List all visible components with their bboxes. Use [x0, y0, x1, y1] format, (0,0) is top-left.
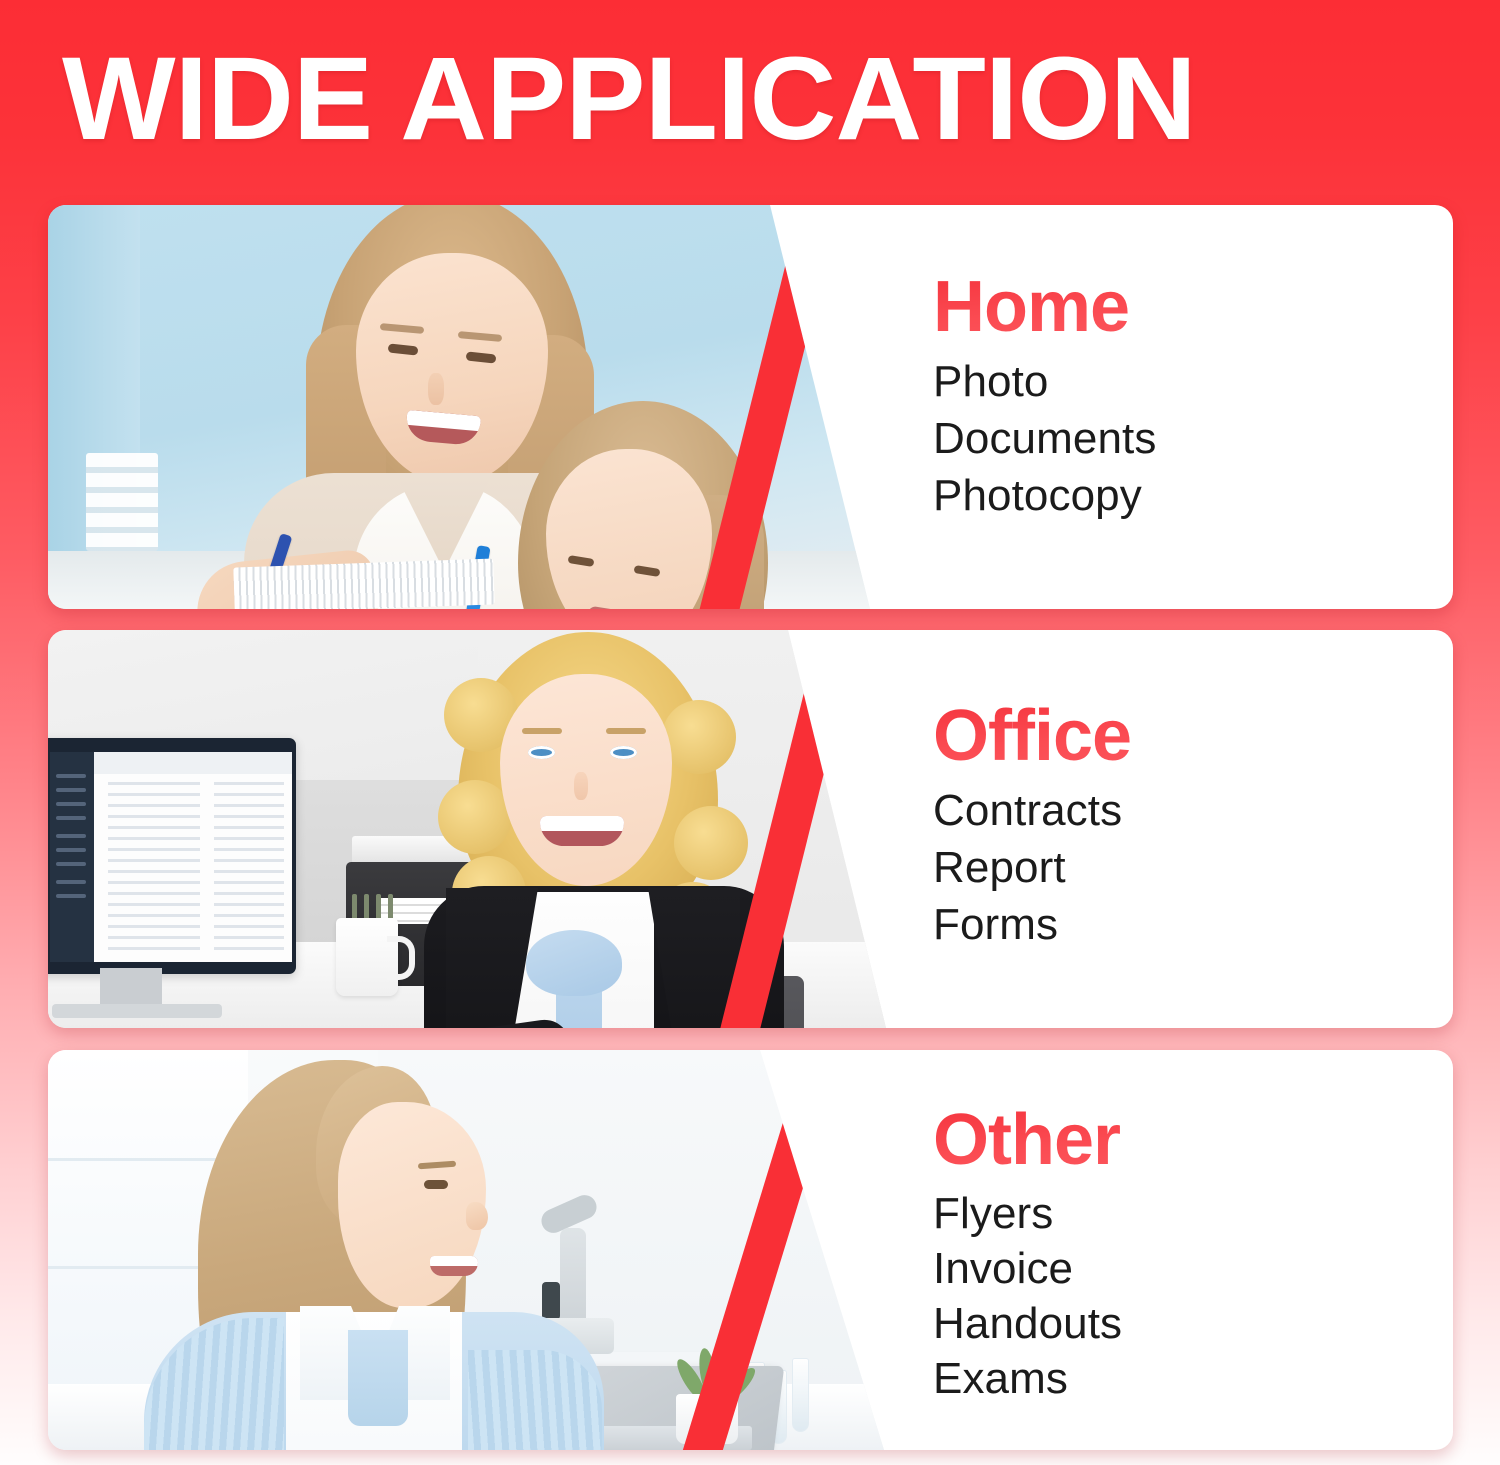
application-card-other: Other Flyers Invoice Handouts Exams — [48, 1050, 1453, 1450]
list-item: Handouts — [933, 1296, 1433, 1351]
woman-eye — [424, 1180, 448, 1189]
card-heading-home: Home — [933, 267, 1433, 347]
book-stack — [86, 453, 158, 551]
list-item: Contracts — [933, 782, 1433, 839]
hair-curl — [662, 700, 736, 774]
screen-sidebar — [50, 752, 94, 962]
screen-column-right — [214, 782, 284, 952]
list-item: Flyers — [933, 1186, 1433, 1241]
child-face — [546, 449, 712, 609]
card-item-list-other: Flyers Invoice Handouts Exams — [933, 1186, 1433, 1406]
test-tube — [792, 1358, 809, 1432]
list-item: Documents — [933, 410, 1433, 467]
card-item-list-office: Contracts Report Forms — [933, 782, 1433, 953]
page-title: WIDE APPLICATION — [62, 44, 1470, 154]
list-item: Photocopy — [933, 467, 1433, 524]
coffee-mug — [336, 918, 398, 996]
woman-eye-right — [610, 746, 637, 759]
hair-curl — [438, 780, 512, 854]
card-text-panel-office: Office Contracts Report Forms — [893, 630, 1453, 1028]
woman-mouth — [430, 1256, 478, 1276]
cardigan-ribbing-right — [468, 1350, 602, 1450]
poster-canvas: WIDE APPLICATION — [0, 0, 1500, 1465]
blue-bow-tie — [526, 930, 622, 996]
monitor-base — [52, 1004, 222, 1018]
application-card-office: Office Contracts Report Forms — [48, 630, 1453, 1028]
list-item: Photo — [933, 353, 1433, 410]
adult-nose — [428, 373, 444, 405]
screen-toolbar — [94, 752, 292, 774]
pencil-cup — [348, 894, 402, 920]
card-heading-other: Other — [933, 1100, 1433, 1180]
list-item: Invoice — [933, 1241, 1433, 1296]
monitor-screen — [50, 752, 292, 962]
blue-blouse — [348, 1330, 408, 1426]
microscope-arm — [560, 1228, 586, 1328]
microscope-lens — [542, 1282, 560, 1320]
woman-eyebrow-left — [522, 728, 562, 734]
hair-curl — [674, 806, 748, 880]
application-card-home: Home Photo Documents Photocopy — [48, 205, 1453, 609]
woman-teeth — [430, 1256, 478, 1266]
card-heading-office: Office — [933, 696, 1433, 776]
card-photo-other — [48, 1050, 886, 1450]
list-item: Exams — [933, 1351, 1433, 1406]
screen-column-left — [108, 782, 200, 952]
card-text-panel-home: Home Photo Documents Photocopy — [893, 205, 1453, 609]
card-item-list-home: Photo Documents Photocopy — [933, 353, 1433, 524]
woman-nose — [466, 1202, 488, 1230]
woman-teeth — [540, 816, 624, 831]
list-item: Forms — [933, 896, 1433, 953]
woman-eye-left — [528, 746, 555, 759]
card-photo-home — [48, 205, 886, 609]
woman-mouth — [540, 816, 624, 846]
list-item: Report — [933, 839, 1433, 896]
woman-eyebrow-right — [606, 728, 646, 734]
card-photo-office — [48, 630, 886, 1028]
woman-nose — [574, 772, 588, 800]
notebook-paper — [233, 558, 494, 609]
card-text-panel-other: Other Flyers Invoice Handouts Exams — [893, 1050, 1453, 1450]
